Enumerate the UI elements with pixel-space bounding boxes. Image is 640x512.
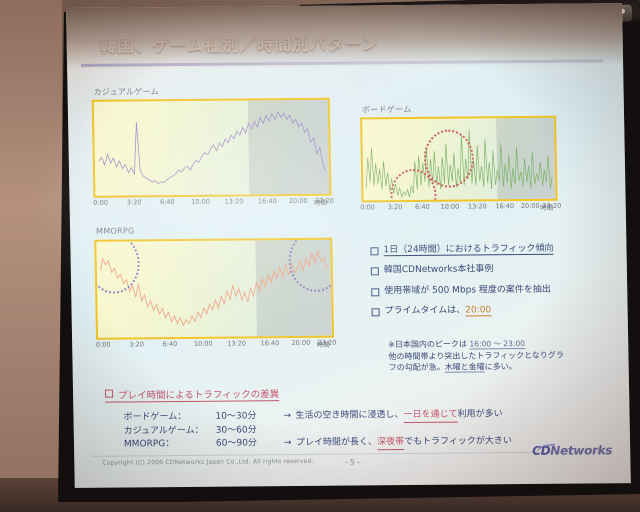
- page-title: 韓国、ゲーム種別／時間別パターン: [100, 29, 379, 56]
- row-label: MMORPG：: [124, 438, 216, 452]
- row-desc-after: でもトラフィックが大きい: [404, 435, 512, 449]
- chart-board-game: ボードゲーム 0:00 3:20 6:40 10:00 13:20 16:40: [360, 116, 558, 215]
- bullet-label: 1日（24時間）におけるトラフィック傾向: [383, 244, 553, 256]
- row-desc-highlight: 深夜帯: [377, 436, 404, 450]
- bullet-item-3: 使用帯域が 500 Mbps 程度の案件を抽出: [371, 284, 621, 297]
- row-desc-highlight: 一日を通じて: [403, 409, 457, 424]
- x-tick: 16:40: [260, 339, 279, 347]
- chart-board-plot: [360, 116, 558, 203]
- x-tick: 20:00: [291, 339, 310, 347]
- chart-board-caption: ボードゲーム: [362, 104, 412, 115]
- row-duration: 10～30分: [215, 410, 283, 424]
- row-desc-before: プレイ時間が長く、: [296, 436, 377, 450]
- prime-time-value: 20:00: [465, 305, 491, 316]
- slide-title-row: ∷ 韓国、ゲーム種別／時間別パターン: [80, 27, 601, 62]
- room-wall-left: [0, 0, 62, 512]
- row-desc-before: 生活の空き時間に浸透し、: [295, 409, 403, 423]
- x-tick: 20:00: [289, 197, 308, 205]
- x-tick: 10:00: [440, 203, 459, 211]
- x-tick: 10:00: [194, 340, 213, 348]
- chart-casual-xaxis: 0:00 3:20 6:40 10:00 13:20 16:40 20:00 2…: [94, 197, 332, 210]
- row-duration: 60～90分: [216, 437, 284, 451]
- x-tick: 6:40: [160, 198, 175, 206]
- x-tick: 3:20: [129, 340, 144, 348]
- bullet-label: プライムタイムは、: [385, 305, 466, 316]
- x-tick: 13:20: [468, 202, 487, 210]
- x-tick: 13:20: [225, 197, 244, 205]
- logo-suffix: Networks: [550, 443, 612, 458]
- presentation-slide: ∷ 韓国、ゲーム種別／時間別パターン カジュアルゲーム 0:00 3:20 6:…: [66, 3, 631, 488]
- bullet-label: 韓国CDNetworks本社事例: [384, 265, 494, 276]
- row-arrow-icon: →: [283, 410, 295, 423]
- section-heading-playtime: プレイ時間によるトラフィックの差異: [105, 386, 279, 403]
- footnote-prefix: ※日本国内のピークは: [388, 339, 469, 349]
- cdnetworks-logo: CDNetworks: [532, 443, 612, 458]
- x-tick: 13:20: [227, 339, 246, 347]
- footnote-line3-suffix: に多い。: [485, 363, 517, 372]
- row-duration: 30～60分: [216, 424, 284, 438]
- table-row: MMORPG： 60～90分 → プレイ時間が長く、深夜帯でもトラフィックが大き…: [124, 434, 594, 452]
- footnote-time-range: 16:00 ～ 23:00: [469, 339, 525, 349]
- chart-mmorpg-plot: [94, 238, 334, 340]
- chart-board-unit: 時間: [540, 202, 553, 212]
- title-marker-icon: ∷: [81, 38, 89, 51]
- chart-mmorpg-caption: MMORPG: [96, 226, 135, 235]
- x-tick: 16:40: [258, 197, 277, 205]
- bullet-item-2: 韓国CDNetworks本社事例: [371, 263, 621, 276]
- x-tick: 20:00: [521, 202, 540, 210]
- playtime-table: ボードゲーム： 10～30分 → 生活の空き時間に浸透し、一日を通じて利用が多い…: [123, 407, 594, 452]
- footnote-japan-peak: ※日本国内のピークは 16:00 ～ 23:00 他の時間帯より突出したトラフィ…: [388, 337, 629, 374]
- chart-casual-plot: [92, 98, 332, 198]
- projection-room: ∷ 韓国、ゲーム種別／時間別パターン カジュアルゲーム 0:00 3:20 6:…: [0, 0, 640, 512]
- footnote-line-3: フの勾配が急。木曜と金曜に多い。: [389, 361, 629, 375]
- x-tick: 6:40: [163, 340, 178, 348]
- row-desc-after: 利用が多い: [457, 408, 502, 421]
- footnote-weekday-highlight: 木曜と金曜: [445, 363, 485, 373]
- bullet-item-1: 1日（24時間）におけるトラフィック傾向: [370, 243, 620, 256]
- footnote-line3-prefix: フの勾配が急。: [389, 363, 445, 372]
- bullet-label: 使用帯域が 500 Mbps 程度の案件を抽出: [384, 284, 551, 295]
- chart-board-xaxis: 0:00 3:20 6:40 10:00 13:20 16:40 20:00 2…: [362, 202, 558, 215]
- logo-prefix: CD: [532, 444, 550, 458]
- x-tick: 6:40: [415, 203, 430, 211]
- x-tick: 0:00: [360, 203, 375, 211]
- chart-mmorpg-xaxis: 0:00 3:20 6:40 10:00 13:20 16:40 20:00 2…: [96, 339, 334, 352]
- chart-casual-unit: 時間: [314, 197, 327, 207]
- chart-casual-line: [94, 100, 330, 196]
- x-tick: 0:00: [93, 199, 108, 207]
- chart-casual-game: カジュアルゲーム 0:00 3:20 6:40 10:00 13:20 16:4…: [92, 98, 332, 210]
- row-label: ボードゲーム：: [123, 411, 215, 425]
- row-label: カジュアルゲーム：: [124, 425, 216, 439]
- chart-casual-caption: カジュアルゲーム: [93, 86, 159, 98]
- bullet-item-4: プライムタイムは、20:00: [372, 304, 622, 317]
- x-tick: 3:20: [388, 203, 403, 211]
- x-tick: 10:00: [191, 198, 210, 206]
- x-tick: 3:20: [127, 198, 142, 206]
- chart-mmorpg-unit: 時間: [317, 339, 330, 349]
- bullet-list: 1日（24時間）におけるトラフィック傾向 韓国CDNetworks本社事例 使用…: [370, 243, 621, 326]
- projected-slide-wrapper: ∷ 韓国、ゲーム種別／時間別パターン カジュアルゲーム 0:00 3:20 6:…: [66, 3, 631, 492]
- x-tick: 0:00: [96, 341, 111, 349]
- x-tick: 16:40: [495, 202, 514, 210]
- chart-mmorpg: MMORPG 0:00 3:20 6:40 10:00 13:20 16:40: [94, 238, 334, 352]
- row-arrow-icon: →: [284, 437, 296, 450]
